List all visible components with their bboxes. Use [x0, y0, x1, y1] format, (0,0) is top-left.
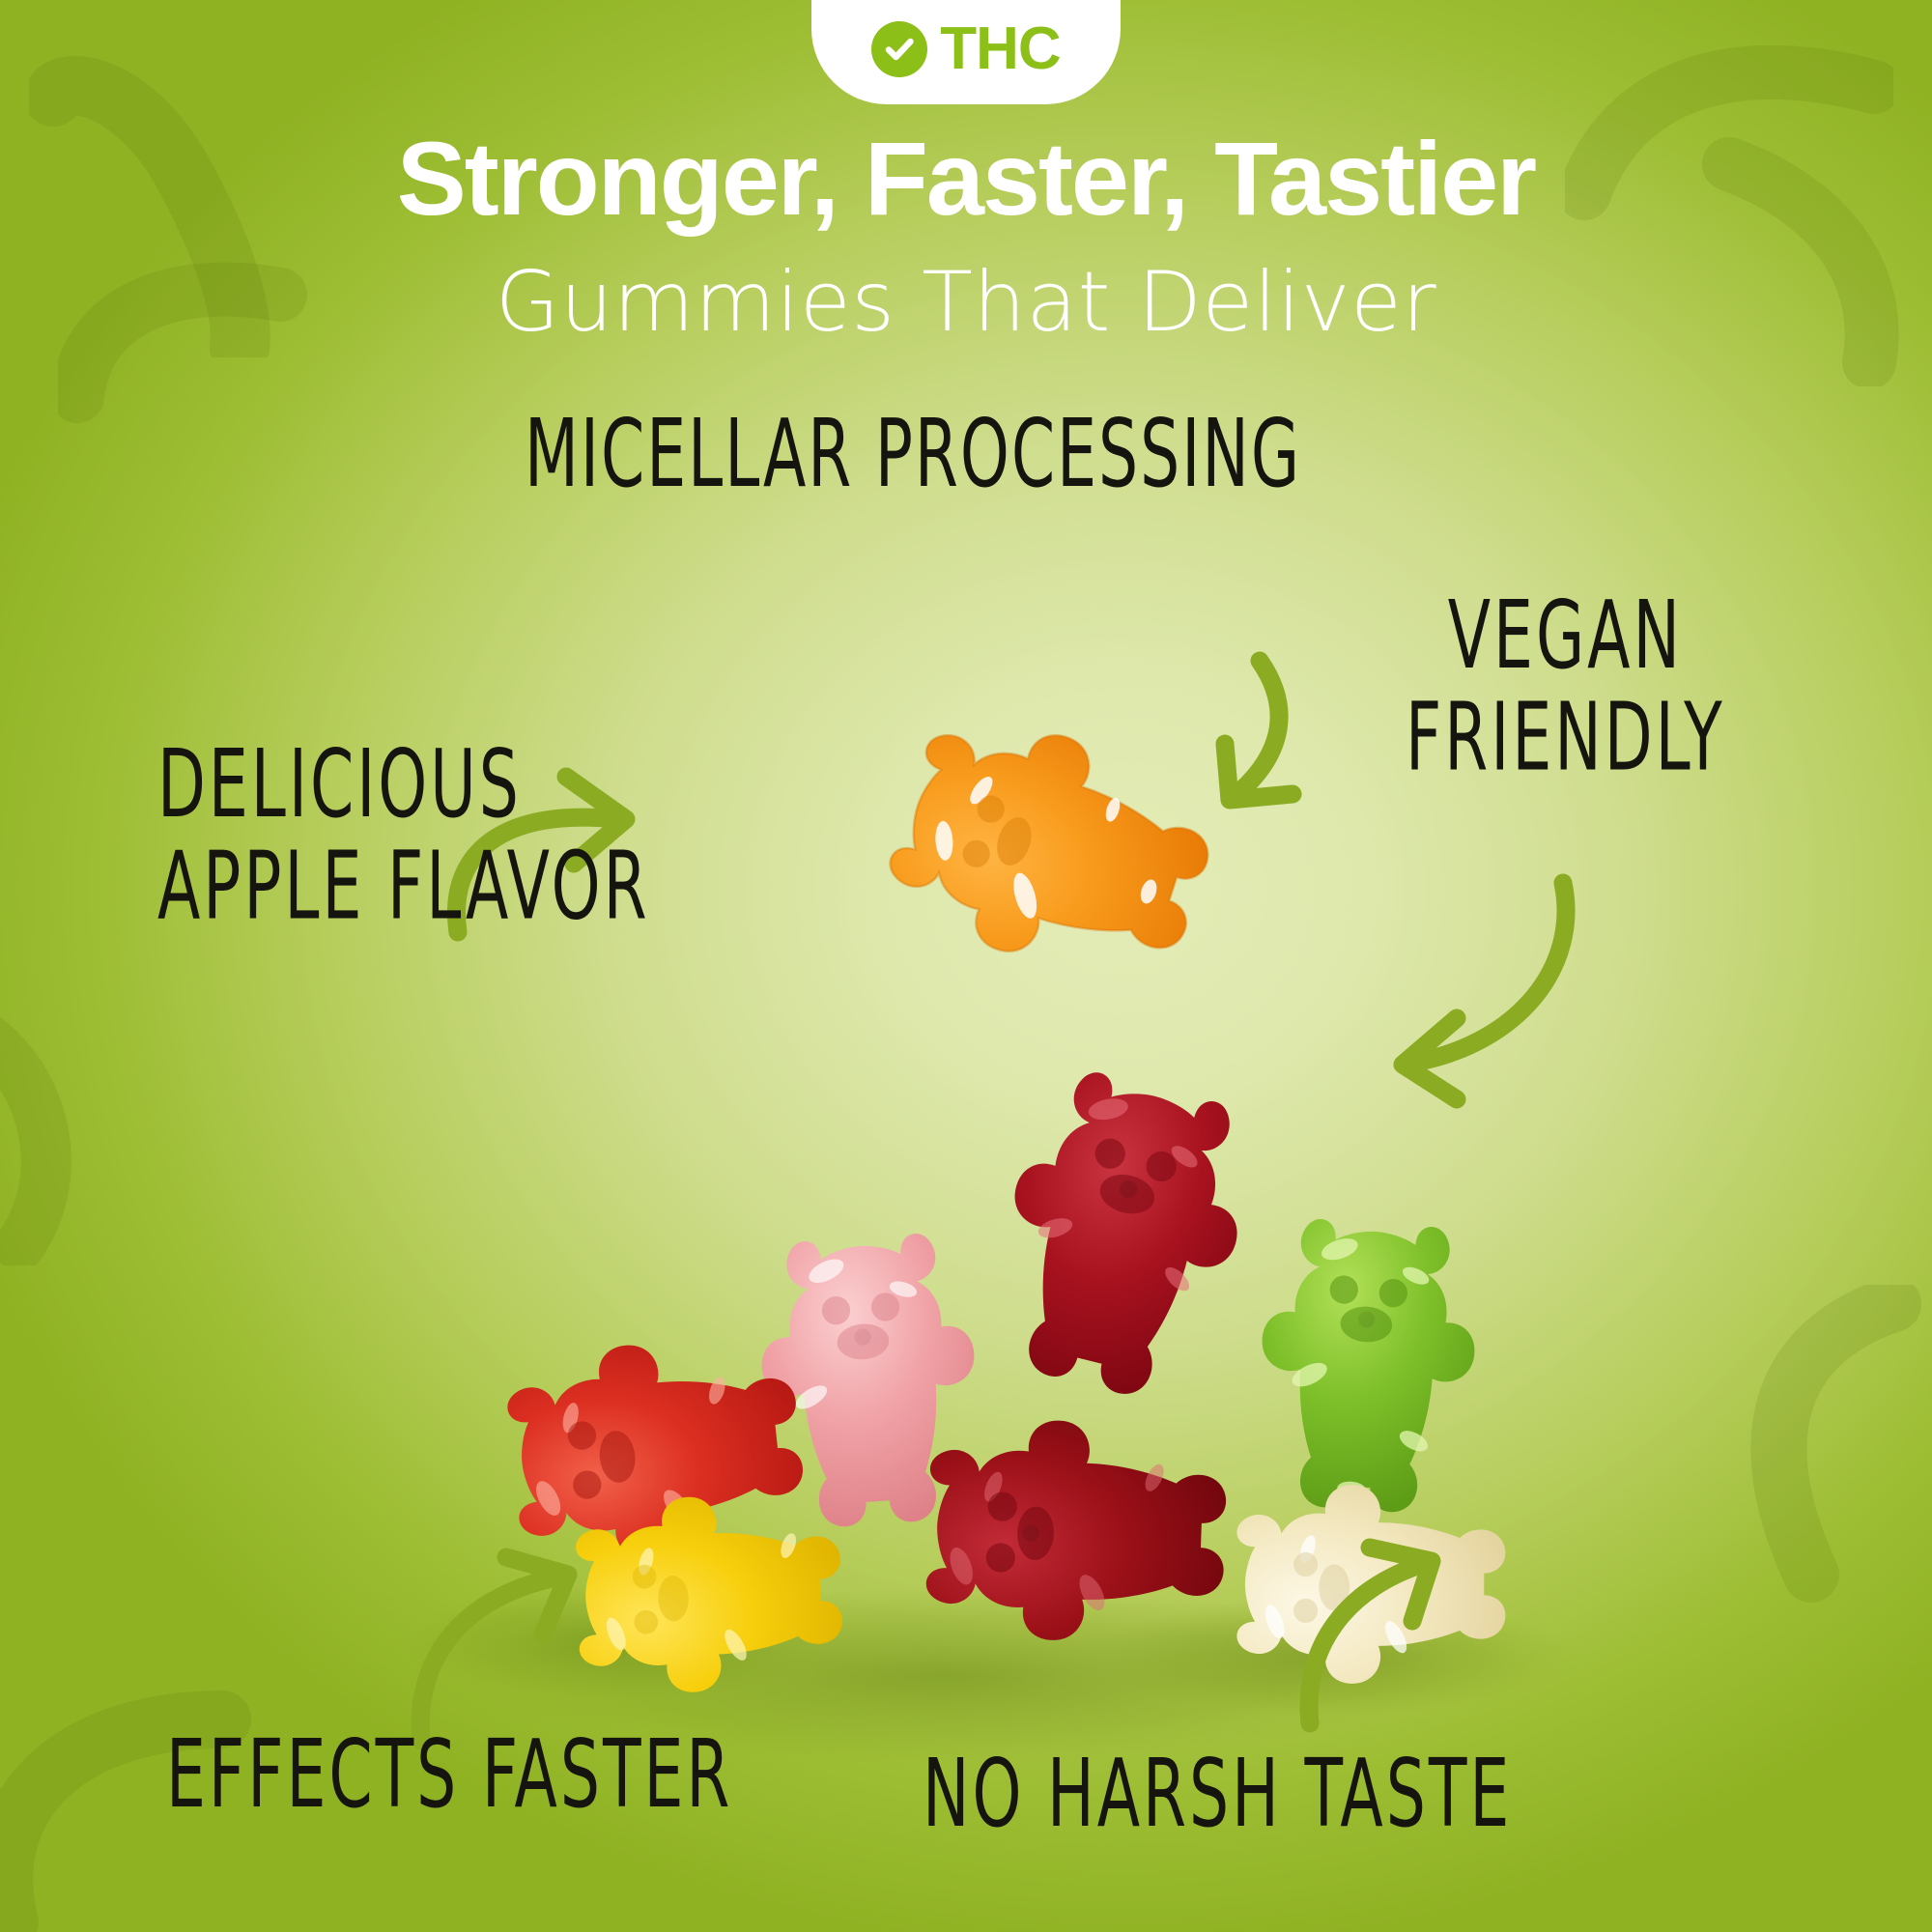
gummy-bear-pink [753, 1230, 985, 1531]
arrow-to-micellar-target [1198, 649, 1401, 833]
feature-label-line: FRIENDLY [1406, 687, 1725, 788]
promo-graphic: THC Stronger, Faster, Tastier Gummies Th… [0, 0, 1932, 1932]
feature-label-micellar-processing: MICELLAR PROCESSING [525, 404, 1301, 505]
feature-label-delicious-apple-flavor: DELICIOUS APPLE FLAVOR [157, 734, 650, 937]
arrow-to-vegan-target [1374, 869, 1596, 1111]
gummy-bear-green [1251, 1215, 1483, 1517]
check-circle-icon [871, 21, 927, 77]
brand-logo-pill: THC [811, 0, 1121, 104]
feature-label-line: EFFECTS FASTER [166, 1724, 732, 1826]
gummy-bear-red-left [502, 1328, 810, 1570]
feature-label-line: DELICIOUS [157, 734, 650, 836]
brand-logo: THC [871, 19, 1060, 79]
feature-label-no-harsh-taste: NO HARSH TASTE [923, 1744, 1512, 1845]
gummy-bear-yellow [574, 1492, 844, 1695]
gummy-bear-dark-red-front [924, 1416, 1229, 1646]
page-title: Stronger, Faster, Tastier [0, 124, 1932, 233]
feature-label-line: VEGAN [1406, 585, 1725, 687]
feature-label-line: APPLE FLAVOR [157, 836, 650, 937]
page-subtitle: Gummies That Deliver [0, 259, 1932, 346]
feature-label-effects-faster: EFFECTS FASTER [166, 1724, 732, 1826]
decorative-squiggle-bottom-right [1719, 1285, 1932, 1604]
feature-label-line: MICELLAR PROCESSING [525, 404, 1301, 505]
gummy-bear-dark-red-upper [974, 1060, 1267, 1411]
brand-logo-text: THC [940, 19, 1060, 79]
arrow-to-noharsh-target [1267, 1542, 1451, 1735]
feature-label-vegan-friendly: VEGAN FRIENDLY [1406, 585, 1725, 788]
decorative-squiggle-mid-left [0, 1014, 155, 1265]
feature-label-line: NO HARSH TASTE [923, 1744, 1512, 1845]
gummy-bear-orange [874, 697, 1230, 1003]
